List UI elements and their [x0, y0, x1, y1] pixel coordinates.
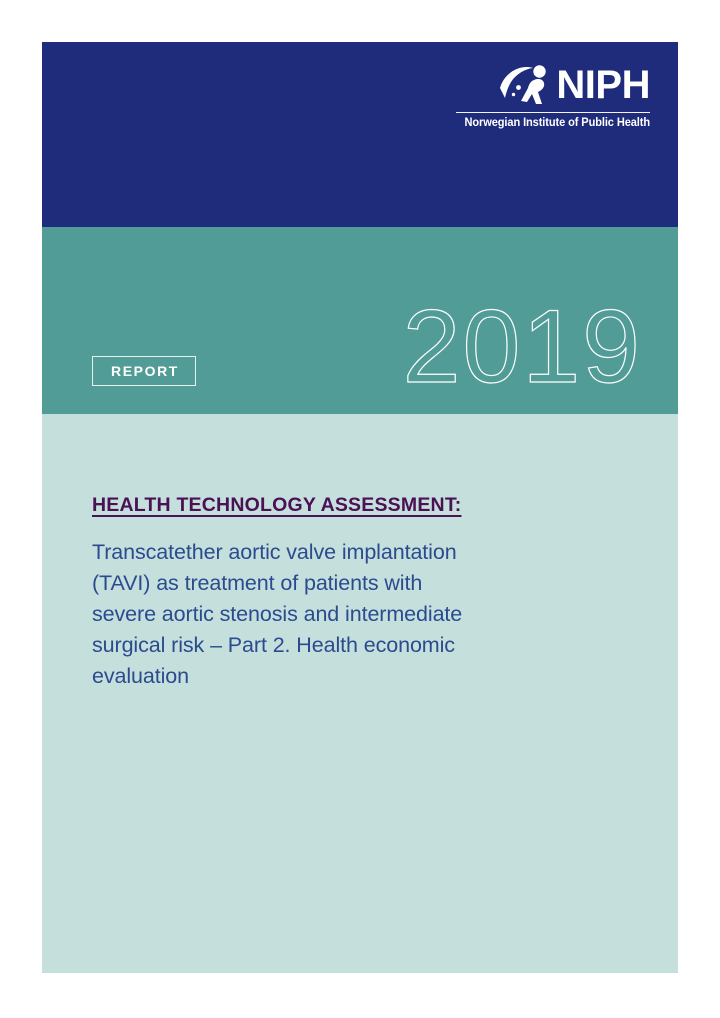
- cover-color-block: NIPH Norwegian Institute of Public Healt…: [42, 42, 678, 973]
- title-line: severe aortic stenosis and intermediate: [92, 599, 562, 630]
- title-area: HEALTH TECHNOLOGY ASSESSMENT: Transcatet…: [92, 494, 562, 692]
- title-line: surgical risk – Part 2. Health economic: [92, 630, 562, 661]
- title-line: evaluation: [92, 661, 562, 692]
- kicker-heading: HEALTH TECHNOLOGY ASSESSMENT:: [92, 494, 562, 517]
- logo-tagline: Norwegian Institute of Public Health: [462, 117, 650, 129]
- header-band: NIPH Norwegian Institute of Public Healt…: [42, 42, 678, 227]
- report-cover-page: NIPH Norwegian Institute of Public Healt…: [0, 0, 720, 1018]
- logo-divider-rule: [456, 112, 650, 113]
- niph-logo: NIPH Norwegian Institute of Public Healt…: [454, 60, 650, 129]
- title-line: Transcatether aortic valve implantation: [92, 537, 562, 568]
- logo-top-row: NIPH: [454, 60, 650, 110]
- year-label: 2019: [403, 295, 642, 399]
- leaping-figure-icon: [498, 62, 552, 108]
- logo-wordmark: NIPH: [556, 65, 650, 105]
- document-title: Transcatether aortic valve implantation …: [92, 537, 562, 692]
- report-badge: REPORT: [92, 356, 196, 386]
- title-line: (TAVI) as treatment of patients with: [92, 568, 562, 599]
